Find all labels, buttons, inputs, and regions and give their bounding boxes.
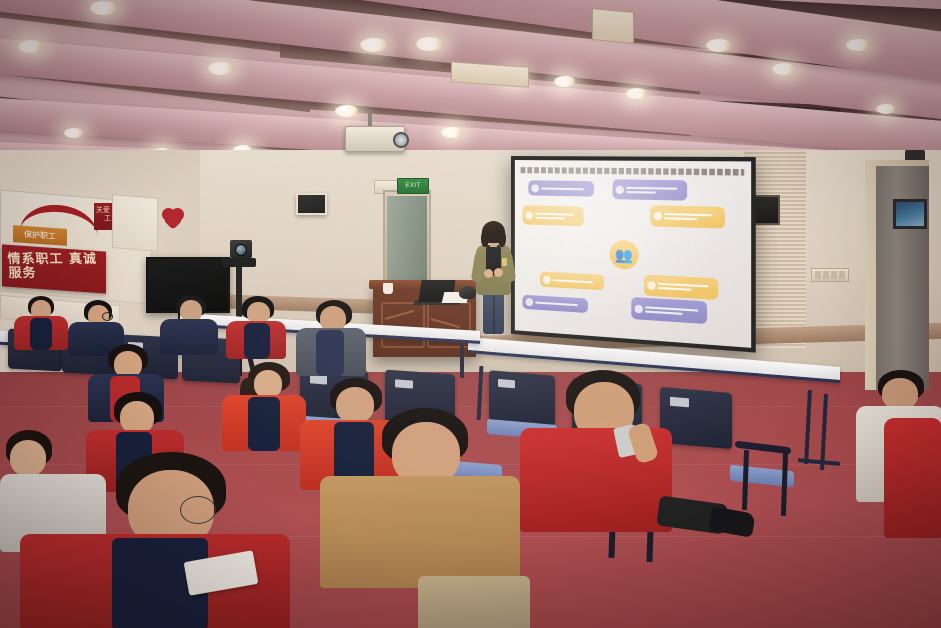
audience-member <box>296 300 368 374</box>
ceiling-equipment-box <box>592 8 634 44</box>
slide-node <box>540 271 604 290</box>
slide-node <box>528 180 594 196</box>
ceiling-light <box>416 37 444 51</box>
node-text <box>553 274 601 288</box>
audience-member <box>68 300 126 350</box>
presenter <box>472 224 514 336</box>
ceiling-light <box>64 128 84 138</box>
node-bullet-icon <box>525 211 533 219</box>
banner-text: 情系职工 真诚服务 <box>1 248 107 285</box>
slide-node <box>644 275 718 300</box>
ceiling-light <box>626 88 648 99</box>
ceiling-light <box>360 38 388 52</box>
exit-sign-label: EXIT <box>405 183 420 189</box>
node-bullet-icon <box>654 212 663 221</box>
audience-member <box>884 418 941 538</box>
audience-member-foreground <box>320 408 530 628</box>
node-text <box>645 300 704 322</box>
ceiling-light <box>90 1 118 15</box>
node-bullet-icon <box>616 185 624 193</box>
slide-node <box>523 295 588 313</box>
heart-decoration <box>162 208 184 228</box>
slide-note <box>650 250 702 252</box>
presenter-hand-right <box>494 268 503 277</box>
slide-node <box>631 297 707 324</box>
presenter-hand-left <box>484 269 493 278</box>
wall-speaker <box>296 193 327 215</box>
node-bullet-icon <box>647 281 656 290</box>
audience-member <box>222 362 308 448</box>
ceiling-light <box>876 104 896 114</box>
light-switch-plate[interactable] <box>811 268 849 282</box>
ceiling-light <box>706 39 732 52</box>
notice-board <box>112 194 158 252</box>
desk-leg <box>460 344 464 378</box>
slide-note <box>534 245 578 247</box>
audience-member <box>226 296 288 354</box>
slide-node <box>613 179 688 200</box>
projection-screen: 👥 <box>511 156 756 353</box>
slide-center-hub: 👥 <box>609 240 638 271</box>
presentation-slide: 👥 <box>515 160 751 348</box>
trousers <box>418 576 530 628</box>
audience-member-foreground <box>20 452 300 628</box>
ceiling-light <box>846 39 870 51</box>
ceiling-light <box>208 62 234 75</box>
wall-banner-calligraphy[interactable]: 情系职工 真诚服务 <box>2 244 106 293</box>
water-cup <box>383 283 393 294</box>
exit-sign: EXIT <box>397 178 429 194</box>
tripod-head[interactable] <box>222 258 256 267</box>
slide-node <box>523 205 584 226</box>
people-icon: 👥 <box>615 247 633 262</box>
ceiling-light <box>554 76 576 87</box>
photo-scene: 关爱 职工 保护职工 情系职工 真诚服务 ★★★★ EXIT <box>0 0 941 628</box>
ceiling-light <box>335 105 359 117</box>
audience-member <box>14 296 70 346</box>
framed-picture <box>893 199 927 229</box>
node-bullet-icon <box>531 184 539 192</box>
slide-node <box>650 205 725 228</box>
presenter-badge <box>502 258 507 266</box>
node-bullet-icon <box>525 298 533 307</box>
node-text <box>664 208 721 227</box>
node-text <box>535 297 585 310</box>
camera-lens-icon <box>235 244 247 256</box>
node-text <box>535 208 581 225</box>
node-bullet-icon <box>634 304 642 313</box>
node-text <box>626 182 684 199</box>
audience-member <box>160 295 220 351</box>
projector-lens-icon <box>393 132 409 148</box>
node-text <box>658 277 715 297</box>
ceiling-light <box>18 40 44 53</box>
node-bullet-icon <box>543 275 551 284</box>
slide-title-line <box>521 167 745 176</box>
ceiling-light <box>772 63 796 75</box>
node-text <box>541 182 591 194</box>
ceiling-light <box>441 127 463 138</box>
audience-member-foreground <box>520 370 680 570</box>
